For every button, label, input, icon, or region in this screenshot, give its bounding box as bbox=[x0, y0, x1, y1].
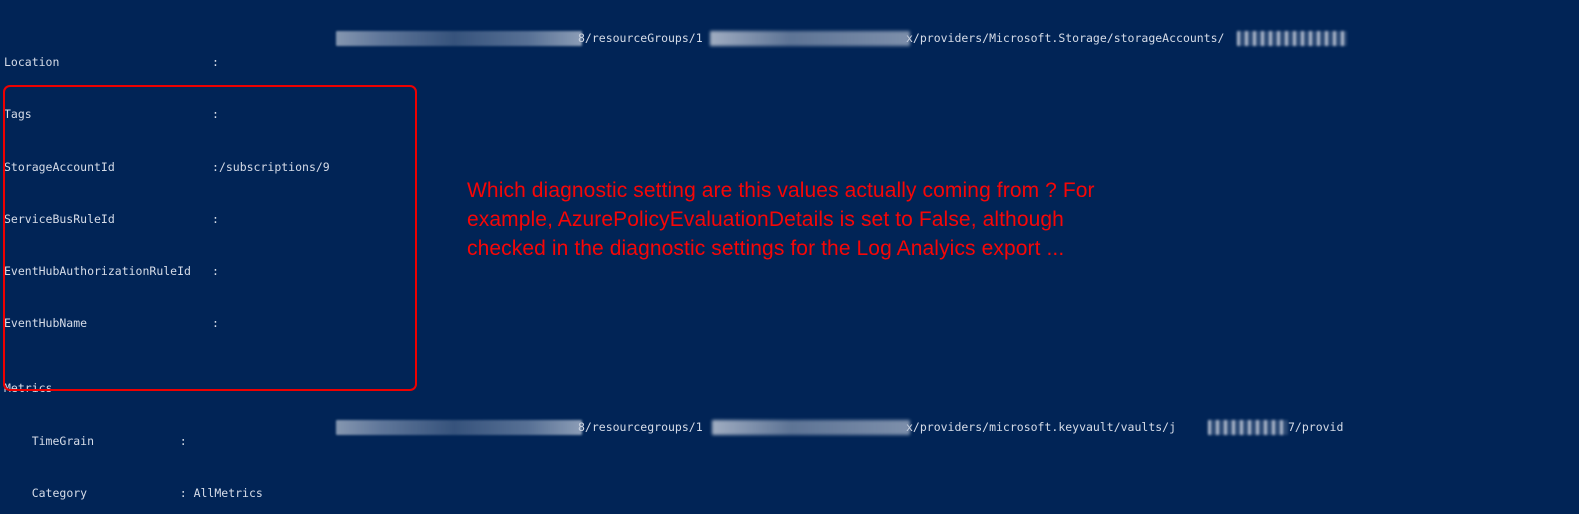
property-colon: : bbox=[212, 108, 219, 121]
property-key: Tags bbox=[4, 108, 212, 121]
property-colon: : bbox=[180, 435, 187, 448]
property-row-tags: Tags: bbox=[4, 108, 1579, 121]
property-value: /subscriptions/9 bbox=[219, 161, 330, 174]
property-colon: : bbox=[212, 161, 219, 174]
property-colon: : bbox=[212, 56, 219, 69]
section-header-metrics: Metrics bbox=[4, 382, 1579, 395]
annotation-line-1: Which diagnostic setting are this values… bbox=[467, 176, 1237, 205]
property-key: Location bbox=[4, 56, 212, 69]
property-key: Category bbox=[32, 487, 180, 500]
property-colon: : bbox=[212, 213, 219, 226]
property-value: AllMetrics bbox=[194, 487, 263, 500]
property-colon: : bbox=[212, 317, 219, 330]
property-row-eventhubauthorizationruleid: EventHubAuthorizationRuleId: bbox=[4, 265, 1579, 278]
metric-row-category: Category: AllMetrics bbox=[4, 487, 1579, 500]
property-key: EventHubName bbox=[4, 317, 212, 330]
metric-row-timegrain: TimeGrain: bbox=[4, 435, 1579, 448]
property-colon: : bbox=[180, 487, 187, 500]
property-row-storageaccountid: StorageAccountId:/subscriptions/9 bbox=[4, 161, 1579, 174]
property-colon: : bbox=[212, 265, 219, 278]
property-row-eventhubname: EventHubName: bbox=[4, 317, 1579, 330]
property-key: StorageAccountId bbox=[4, 161, 212, 174]
powershell-console-screenshot: Location: Tags: StorageAccountId:/subscr… bbox=[0, 0, 1579, 514]
property-key: TimeGrain bbox=[32, 435, 180, 448]
annotation-line-2: example, AzurePolicyEvaluationDetails is… bbox=[467, 205, 1237, 234]
property-key: ServiceBusRuleId bbox=[4, 213, 212, 226]
property-key: EventHubAuthorizationRuleId bbox=[4, 265, 212, 278]
annotation-line-3: checked in the diagnostic settings for t… bbox=[467, 234, 1237, 263]
property-row-location: Location: bbox=[4, 56, 1579, 69]
red-annotation-text: Which diagnostic setting are this values… bbox=[467, 176, 1237, 263]
